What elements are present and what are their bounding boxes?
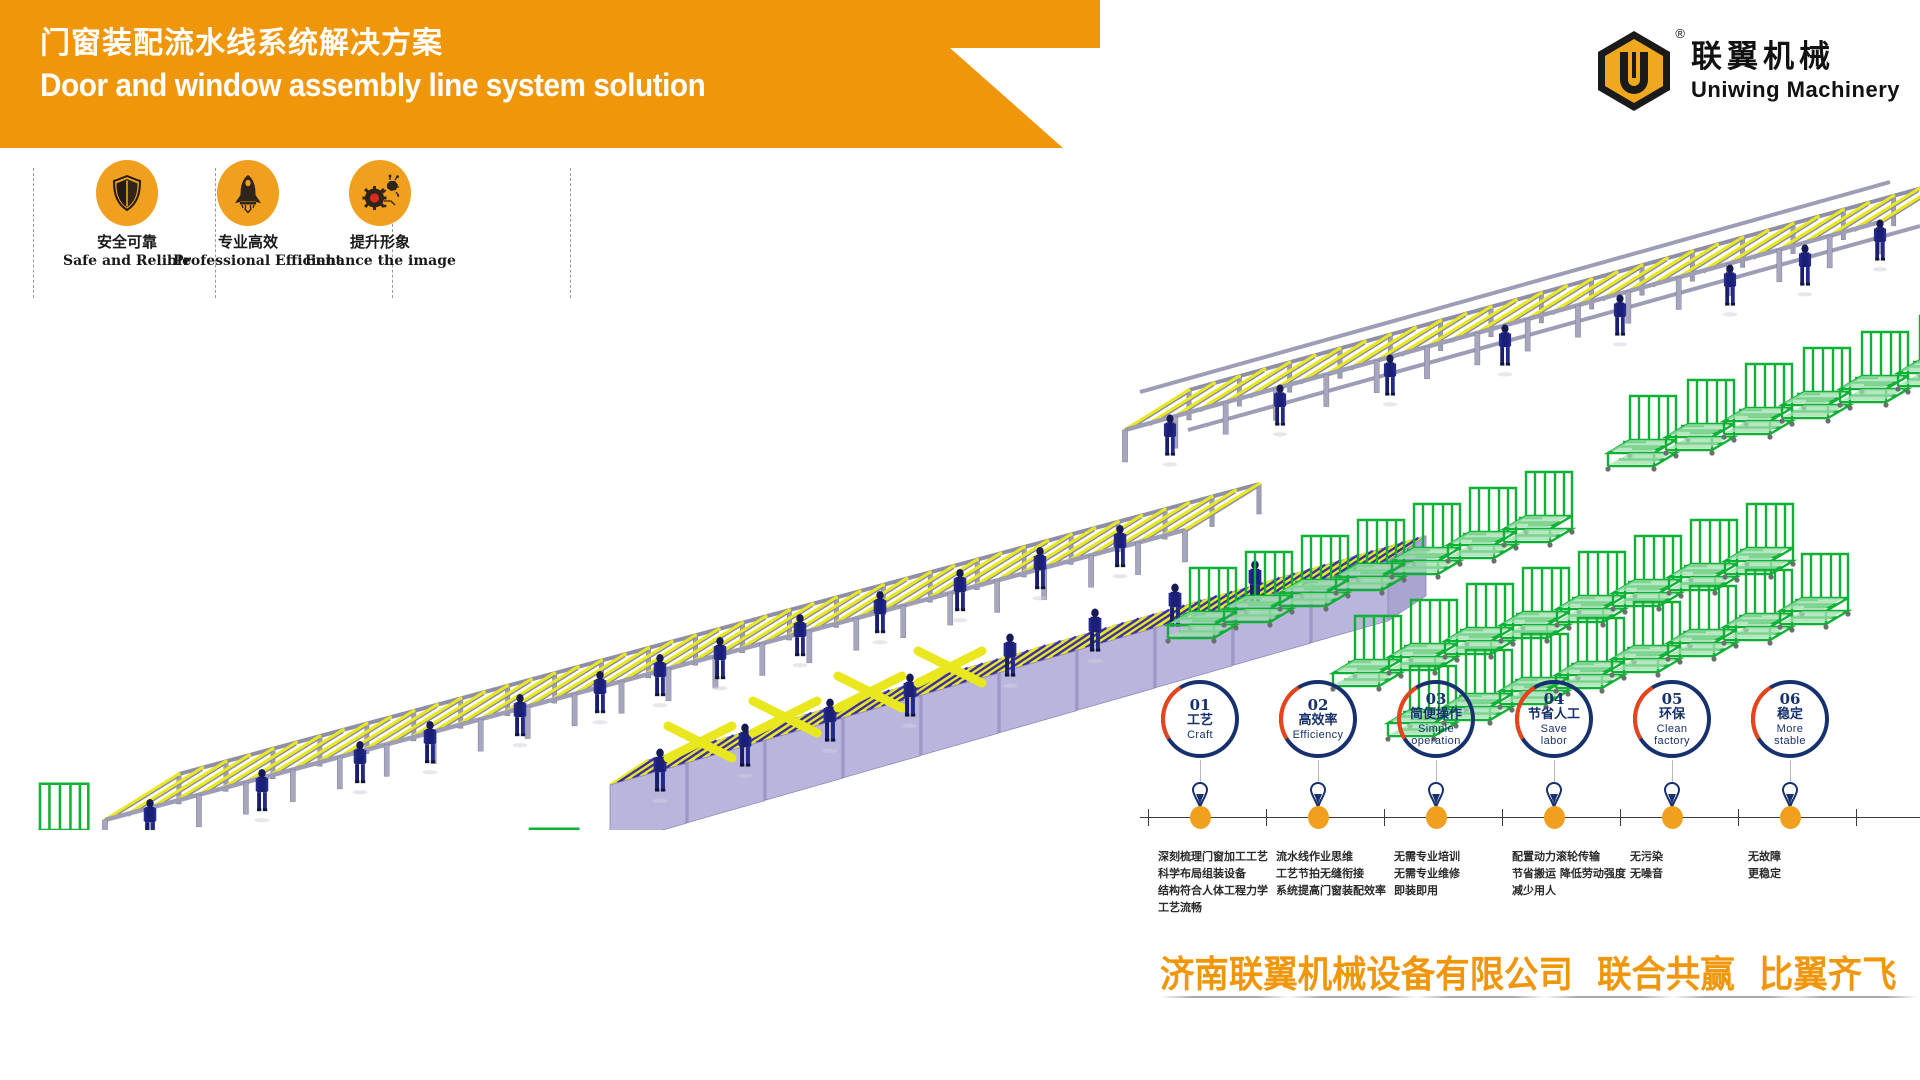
footer-rule [1288,996,1418,998]
brand-logo: ® 联翼机械 Uniwing Machinery [1591,28,1900,114]
material-trolley [1605,396,1678,472]
material-trolley [1722,504,1795,580]
page-title-en: Door and window assembly line system sol… [40,64,705,106]
worker-figure [1498,325,1513,377]
benefit-badge-02[interactable]: 02高效率Efficiency [1279,680,1357,758]
slogan-company: 济南联翼机械设备有限公司 [1160,953,1573,996]
worker-figure [592,671,607,724]
brand-name-en: Uniwing Machinery [1691,76,1900,104]
badge-stem [1672,760,1673,782]
timeline-dot [1544,806,1565,829]
benefit-desc-line: 工艺流畅 [1158,899,1318,916]
timeline-tick [1266,809,1267,826]
brand-name-block: 联翼机械 Uniwing Machinery [1691,38,1900,104]
location-pin-icon [1782,782,1798,808]
benefit-badge-03[interactable]: 03简便操作Simpleoperation [1397,680,1475,758]
timeline-tick [1148,809,1149,826]
slogan-phrase-1: 联合共赢 [1597,953,1735,996]
timeline-tick [1502,809,1503,826]
footer-rule [1788,996,1918,998]
benefit-badge-05[interactable]: 05环保Cleanfactory [1633,680,1711,758]
hexagon-u-logo-icon: ® [1591,28,1677,114]
benefit-desc-line: 更稳定 [1748,865,1908,882]
footer-rule [1544,996,1674,998]
poster-canvas: 门窗装配流水线系统解决方案 Door and window assembly l… [0,0,1920,1080]
badge-stem [1790,760,1791,782]
badge-stem [1200,760,1201,782]
brand-name-cn: 联翼机械 [1691,38,1900,76]
location-pin-icon [1310,782,1326,808]
rear-gravity-roller-conveyor [1122,182,1920,462]
footer-rule [1416,996,1546,998]
benefit-badge-04[interactable]: 04节省人工Savelabor [1515,680,1593,758]
material-trolley [1777,554,1850,630]
worker-figure [1383,355,1398,407]
material-trolley [1663,380,1736,456]
material-trolley [1779,348,1852,424]
worker-figure [1613,295,1628,347]
benefit-desc-line: 无故障 [1748,848,1908,865]
location-pin-icon [1664,782,1680,808]
timeline-tick [1738,809,1739,826]
material-trolley [1721,364,1794,440]
material-trolley [504,829,581,830]
material-trolley [14,784,91,830]
benefit-desc-line: 减少用人 [1512,882,1672,899]
timeline-tick [1620,809,1621,826]
slogan-phrase-2: 比翼齐飞 [1759,953,1897,996]
badge-stem [1318,760,1319,782]
badge-stem [1436,760,1437,782]
timeline-dot [1308,806,1329,829]
footer-slogan-block: 济南联翼机械设备有限公司联合共赢比翼齐飞 [1140,944,1920,1014]
badge-stem [1554,760,1555,782]
registered-trademark-icon: ® [1675,26,1685,41]
benefit-badge-01[interactable]: 01工艺Craft [1161,680,1239,758]
footer-rule [1160,996,1290,998]
header-titles: 门窗装配流水线系统解决方案 Door and window assembly l… [40,24,755,106]
page-title-cn: 门窗装配流水线系统解决方案 [40,24,755,64]
location-pin-icon [1428,782,1444,808]
footer-slogan: 济南联翼机械设备有限公司联合共赢比翼齐飞 [1160,944,1897,998]
benefits-timeline: 01工艺Craft深刻梳理门窗加工工艺科学布局组装设备结构符合人体工程力学工艺流… [1140,680,1920,980]
timeline-dot [1426,806,1447,829]
benefit-badge-06[interactable]: 06稳定Morestable [1751,680,1829,758]
timeline-dot [1190,806,1211,829]
location-pin-icon [1192,782,1208,808]
benefit-description: 无故障更稳定 [1748,848,1908,882]
timeline-axis [1140,817,1920,818]
timeline-tick [1384,809,1385,826]
material-trolley [1501,472,1574,548]
footer-rule [1672,996,1802,998]
worker-figure [1798,245,1813,297]
location-pin-icon [1546,782,1562,808]
timeline-tick [1856,809,1857,826]
timeline-dot [1780,806,1801,829]
material-trolley [1837,332,1910,408]
timeline-dot [1662,806,1683,829]
